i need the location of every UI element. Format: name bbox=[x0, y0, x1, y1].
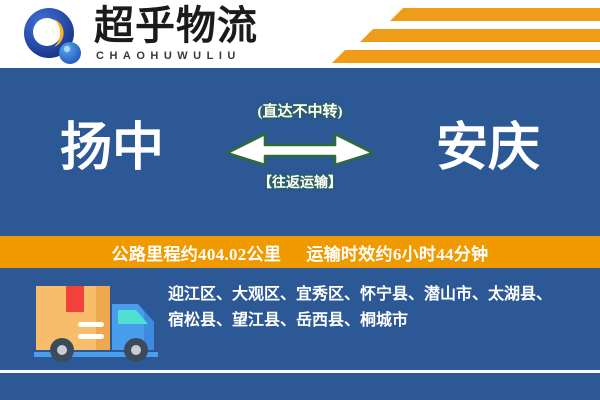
coverage-section: 迎江区、大观区、宜秀区、怀宁县、潜山市、太湖县、 宿松县、望江县、岳西县、桐城市 bbox=[0, 268, 600, 372]
stripe-bottom bbox=[332, 50, 600, 63]
duration-value: 运输时效约6小时44分钟 bbox=[306, 245, 488, 264]
header-bar: 超乎物流 CHAOHUWULIU bbox=[0, 0, 600, 72]
district-line-2: 宿松县、望江县、岳西县、桐城市 bbox=[168, 308, 580, 334]
orange-diagonal-stripes-icon bbox=[330, 8, 600, 66]
delivery-truck-icon bbox=[28, 278, 164, 366]
direct-service-note: (直达不中转) bbox=[225, 102, 375, 122]
stripe-middle bbox=[360, 29, 600, 42]
brand-logo: 超乎物流 CHAOHUWULIU bbox=[22, 6, 282, 68]
route-info-bar: 公路里程约404.02公里 运输时效约6小时44分钟 bbox=[0, 236, 600, 268]
circle-crescent-logo-icon bbox=[22, 8, 84, 66]
route-panel: 扬中 (直达不中转) 【往返运输】 安庆 bbox=[0, 72, 600, 236]
footer-strip bbox=[0, 373, 600, 400]
brand-name-en: CHAOHUWULIU bbox=[96, 50, 241, 63]
route-poster: 超乎物流 CHAOHUWULIU 扬中 (直达不中转) 【往返运输】 安庆 公路… bbox=[0, 0, 600, 400]
stripe-top bbox=[390, 8, 600, 21]
brand-name-cn: 超乎物流 bbox=[94, 4, 258, 48]
distance-value: 公路里程约404.02公里 bbox=[112, 245, 282, 264]
destination-city: 安庆 bbox=[436, 118, 540, 180]
double-headed-arrow-icon bbox=[225, 126, 375, 170]
route-info-text: 公路里程约404.02公里 运输时效约6小时44分钟 bbox=[112, 240, 489, 265]
covered-districts-list: 迎江区、大观区、宜秀区、怀宁县、潜山市、太湖县、 宿松县、望江县、岳西县、桐城市 bbox=[168, 282, 580, 334]
origin-city: 扬中 bbox=[60, 118, 164, 180]
district-line-1: 迎江区、大观区、宜秀区、怀宁县、潜山市、太湖县、 bbox=[168, 282, 580, 308]
round-trip-note: 【往返运输】 bbox=[225, 174, 375, 193]
route-arrow-group: (直达不中转) 【往返运输】 bbox=[225, 102, 375, 210]
